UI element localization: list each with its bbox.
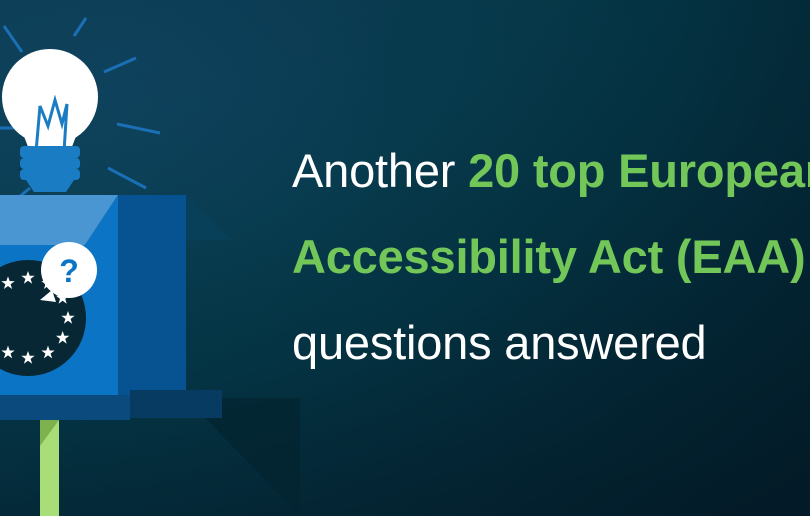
headline-line-3: questions answered	[292, 300, 810, 386]
illustration: ?	[0, 0, 300, 516]
headline-line-2-accent: Accessibility Act (EAA)	[292, 230, 805, 283]
eaa-banner: ? Another 20 top European Accessibility …	[0, 0, 810, 516]
headline-line-3-plain: questions answered	[292, 316, 706, 369]
birdhouse-ledge	[0, 395, 130, 420]
birdhouse-ledge-side	[130, 390, 222, 418]
roof-cast-shadow	[186, 195, 232, 240]
box-cast-shadow	[120, 412, 300, 516]
support-post	[40, 420, 59, 516]
speech-bubble-text: ?	[59, 253, 79, 289]
birdhouse-icon: ?	[0, 195, 232, 420]
headline-line-1: Another 20 top European	[292, 128, 810, 214]
headline-line-1-plain: Another	[292, 144, 468, 197]
headline-line-1-accent: 20 top European	[468, 144, 810, 197]
birdhouse-side	[118, 245, 186, 395]
roof-right-face	[118, 195, 186, 245]
page-title: Another 20 top European Accessibility Ac…	[292, 128, 810, 386]
lightbulb-icon	[2, 49, 98, 192]
headline-line-2: Accessibility Act (EAA)	[292, 214, 810, 300]
